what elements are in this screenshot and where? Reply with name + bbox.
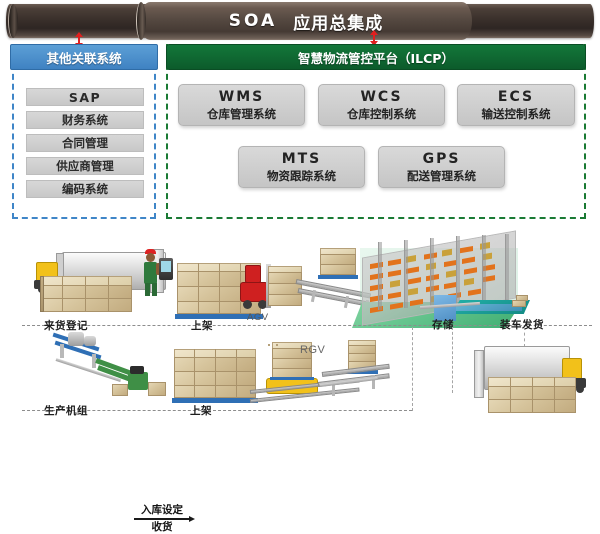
- label-putaway-row1: 上架: [191, 318, 213, 333]
- module-code: MTS: [282, 151, 322, 168]
- label-production-unit: 生产机组: [44, 403, 88, 418]
- related-systems-list: SAP 财务系统 合同管理 供应商管理 编码系统: [26, 88, 144, 203]
- dash-riser-row2: [412, 327, 413, 411]
- label-putaway-row2: 上架: [190, 403, 212, 418]
- module-name: 仓库控制系统: [347, 106, 416, 122]
- label-agv: AGV: [247, 312, 269, 323]
- module-name: 配送管理系统: [407, 168, 476, 184]
- list-item[interactable]: 供应商管理: [26, 157, 144, 175]
- soa-tube-left-cap: [8, 4, 18, 38]
- list-item[interactable]: 财务系统: [26, 111, 144, 129]
- flow-arrow-icon: [134, 518, 190, 520]
- list-item[interactable]: 合同管理: [26, 134, 144, 152]
- module-code: WCS: [360, 89, 402, 106]
- ilcp-panel: [166, 44, 586, 219]
- dash-drop-storage: [452, 327, 453, 393]
- module-card-wcs[interactable]: WCS 仓库控制系统: [318, 84, 445, 126]
- soa-code: SOA: [229, 11, 277, 31]
- module-code: ECS: [498, 89, 534, 106]
- label-storage: 存储: [432, 317, 454, 332]
- related-systems-header: 其他关联系统: [10, 44, 158, 70]
- ilcp-panel-header: 智慧物流管控平台（ILCP）: [166, 44, 586, 70]
- label-rgv: RGV: [300, 344, 325, 356]
- flow-note-line2: 收货: [134, 521, 190, 534]
- module-name: 物资跟踪系统: [267, 168, 336, 184]
- flow-note-line1: 入库设定: [134, 504, 190, 517]
- soa-title: SOA 应用总集成: [140, 2, 472, 40]
- module-card-mts[interactable]: MTS 物资跟踪系统: [238, 146, 365, 188]
- module-name: 输送控制系统: [482, 106, 551, 122]
- dash-drop-shipping: [524, 327, 525, 347]
- module-card-gps[interactable]: GPS 配送管理系统: [378, 146, 505, 188]
- soa-header-bar: SOA 应用总集成: [6, 4, 594, 38]
- inbound-flow-note: 入库设定 收货: [134, 504, 190, 534]
- list-item[interactable]: SAP: [26, 88, 144, 106]
- label-loading-shipping: 装车发货: [500, 317, 544, 332]
- list-item[interactable]: 编码系统: [26, 180, 144, 198]
- diagram-canvas: SOA 应用总集成 其他关联系统 SAP 财务系统 合同管理 供应商管理 编码系…: [0, 0, 600, 433]
- module-card-wms[interactable]: WMS 仓库管理系统: [178, 84, 305, 126]
- module-code: GPS: [423, 151, 461, 168]
- module-card-ecs[interactable]: ECS 输送控制系统: [457, 84, 575, 126]
- logistics-flow-illustration: 入库设定 收货 AGV: [0, 232, 600, 433]
- module-name: 仓库管理系统: [207, 106, 276, 122]
- label-arrival-registration: 来货登记: [44, 318, 88, 333]
- module-code: WMS: [219, 89, 264, 106]
